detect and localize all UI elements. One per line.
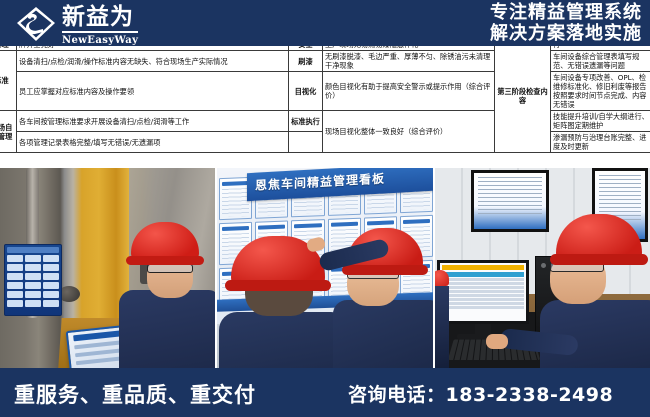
header-slogan: 专注精益管理系统 解决方案落地实施 xyxy=(490,2,642,44)
worker-figure-background xyxy=(435,286,449,368)
footer-contact-label: 咨询电话： xyxy=(348,384,446,406)
row-standard: 颜色目视化有助于提高安全警示或提示作用（综合评价） xyxy=(323,72,495,111)
row-category: 标准 xyxy=(0,51,17,111)
table-row: 现场自主管理 各车间按管理标准要求开展设备清扫/点检/润滑等工作 标准执行 现场… xyxy=(0,111,650,132)
diamond-swirl-logo-icon xyxy=(16,6,56,44)
wall-poster-left xyxy=(471,170,549,232)
row-category: 现场自主管理 xyxy=(0,111,17,153)
row-description: 设备清扫/点检/润滑/操作标准内容无缺失、符合现场生产实际情况 xyxy=(17,51,289,72)
photo-kanban-board-discussion: 恩焦车间精益管理看板 xyxy=(217,168,433,368)
worker-hand-on-mouse xyxy=(486,334,508,349)
footer-tagline: 重服务、重品质、重交付 xyxy=(14,379,256,409)
row-item: 刷漆 xyxy=(289,51,323,72)
computer-monitor xyxy=(437,260,529,324)
footer-contact: 咨询电话：183-2338-2498 xyxy=(348,380,613,407)
row-item: 标准执行 xyxy=(289,111,323,132)
standards-matrix-table: 管理 牌齐全完好 安全 生产现场无易燃易爆隐患件化 第三阶段检查内容 行 标准 … xyxy=(0,46,650,153)
kanban-board-title: 恩焦车间精益管理看板 xyxy=(255,168,429,194)
worker-uniform xyxy=(119,290,215,368)
row-stage-content: 渗漏预防与治理台账完整、进度及时更新 xyxy=(551,132,650,153)
red-helmet-icon xyxy=(131,222,199,264)
slogan-line-1: 专注精益管理系统 xyxy=(490,2,642,23)
row-stage-content: 车间设备综合管理表填写规范、无错误遗漏等问题 xyxy=(551,51,650,72)
worker-uniform xyxy=(219,312,349,368)
red-helmet-icon xyxy=(556,214,642,264)
stage-label: 第三阶段检查内容 xyxy=(495,46,551,153)
table-row: 员工应掌握对应标准内容及操作要领 目视化 颜色目视化有助于提高安全警示或提示作用… xyxy=(0,72,650,111)
photo-field-equipment-inspection xyxy=(0,168,215,368)
footer-phone-number[interactable]: 183-2338-2498 xyxy=(446,384,614,406)
row-item: 目视化 xyxy=(289,72,323,111)
monitor-stand xyxy=(475,324,491,334)
photo-strip: 恩焦车间精益管理看板 xyxy=(0,168,650,368)
worker-figure xyxy=(115,220,215,368)
photo-office-data-entry xyxy=(435,168,650,368)
table-row: 标准 设备清扫/点检/润滑/操作标准内容无缺失、符合现场生产实际情况 刷漆 无刷… xyxy=(0,51,650,72)
row-description: 各项管理记录表格完整/填写无错误/无遗漏项 xyxy=(17,132,289,153)
equipment-info-board xyxy=(4,244,62,316)
row-item xyxy=(289,132,323,153)
worker-figure xyxy=(544,214,650,368)
standards-matrix-region: 管理 牌齐全完好 安全 生产现场无易燃易爆隐患件化 第三阶段检查内容 行 标准 … xyxy=(0,46,650,168)
slogan-line-2: 解决方案落地实施 xyxy=(490,23,642,44)
brand-lockup: 新益为 NewEasyWay xyxy=(16,4,138,46)
safety-glasses-icon xyxy=(147,264,193,273)
promotional-page: 新益为 NewEasyWay 专注精益管理系统 解决方案落地实施 管理 牌齐全完… xyxy=(0,0,650,417)
row-stage-content: 技能提升培训/自学大纲进行、矩阵图定期维护 xyxy=(551,111,650,132)
brand-name-cn: 新益为 xyxy=(62,6,138,33)
row-stage-content: 车间设备专项改善、OPL、检维修标准化、修旧利废等报告按照要求时间节点完成、内容… xyxy=(551,72,650,111)
brand-text: 新益为 NewEasyWay xyxy=(62,4,138,46)
worker-uniform xyxy=(333,300,433,368)
brand-name-en: NewEasyWay xyxy=(62,36,138,46)
row-description: 各车间按管理标准要求开展设备清扫/点检/润滑等工作 xyxy=(17,111,289,132)
row-standard: 现场目视化整体一致良好（综合评价） xyxy=(323,111,495,153)
page-header: 新益为 NewEasyWay 专注精益管理系统 解决方案落地实施 xyxy=(0,0,650,46)
row-description: 员工应掌握对应标准内容及操作要领 xyxy=(17,72,289,111)
row-standard: 无刷漆脱漆、毛边严重、厚薄不匀、除锈油污未清理干净现象 xyxy=(323,51,495,72)
page-footer: 重服务、重品质、重交付 咨询电话：183-2338-2498 xyxy=(0,368,650,417)
